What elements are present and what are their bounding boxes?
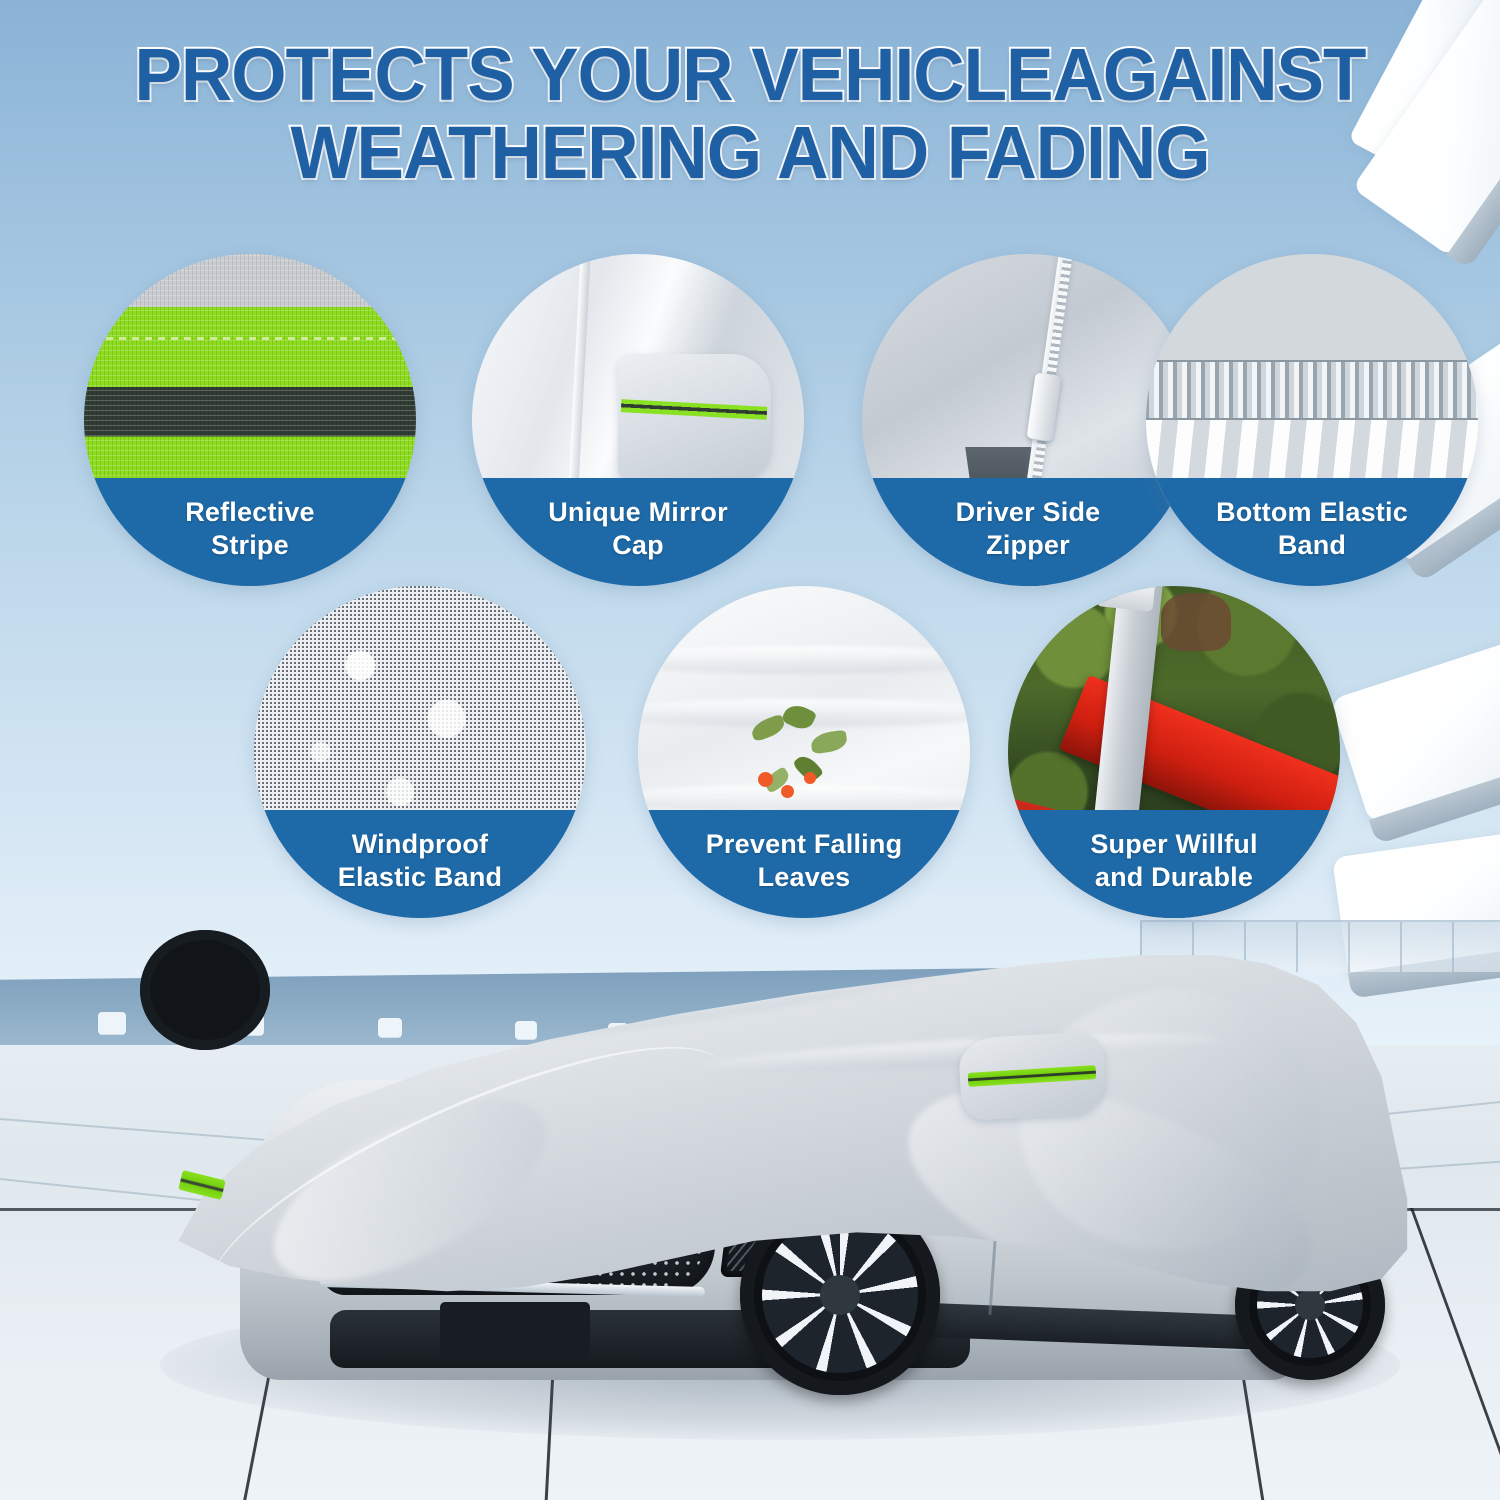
feature-circle-driver-side-zipper[interactable]: Driver SideZipper <box>862 254 1194 586</box>
feature-label: ReflectiveStripe <box>185 496 315 562</box>
headline-line-1: PROTECTS YOUR VEHICLEAGAINST <box>30 36 1470 114</box>
feature-label: Super Willfuland Durable <box>1090 828 1257 894</box>
feature-banner: Driver SideZipper <box>862 478 1194 586</box>
feature-label: Bottom ElasticBand <box>1216 496 1408 562</box>
feature-circle-unique-mirror-cap[interactable]: Unique MirrorCap <box>472 254 804 586</box>
wall-vent <box>98 1012 126 1034</box>
feature-circle-super-willful-and-durable[interactable]: Super Willfuland Durable <box>1008 586 1340 918</box>
feature-banner: Prevent FallingLeaves <box>638 810 970 918</box>
feature-banner: Bottom ElasticBand <box>1146 478 1478 586</box>
cover-fold <box>471 945 989 1056</box>
feature-banner: Super Willfuland Durable <box>1008 810 1340 918</box>
feature-label: Prevent FallingLeaves <box>706 828 903 894</box>
feature-banner: WindproofElastic Band <box>254 810 586 918</box>
wheel-hub <box>1295 1290 1325 1320</box>
feature-circle-prevent-falling-leaves[interactable]: Prevent FallingLeaves <box>638 586 970 918</box>
wheel-hub <box>820 1275 860 1315</box>
feature-label: WindproofElastic Band <box>338 828 502 894</box>
feature-circle-reflective-stripe[interactable]: ReflectiveStripe <box>84 254 416 586</box>
feature-banner: ReflectiveStripe <box>84 478 416 586</box>
feature-circle-windproof-elastic-band[interactable]: WindproofElastic Band <box>254 586 586 918</box>
feature-banner: Unique MirrorCap <box>472 478 804 586</box>
far-wheel <box>140 930 270 1050</box>
page-title: PROTECTS YOUR VEHICLEAGAINST WEATHERING … <box>0 36 1500 192</box>
hero-car-with-cover <box>140 930 1420 1450</box>
feature-label: Driver SideZipper <box>956 496 1101 562</box>
headline-line-2: WEATHERING AND FADING <box>30 114 1470 192</box>
feature-label: Unique MirrorCap <box>548 496 728 562</box>
license-plate-recess <box>440 1302 590 1360</box>
feature-circle-bottom-elastic-band[interactable]: Bottom ElasticBand <box>1146 254 1478 586</box>
